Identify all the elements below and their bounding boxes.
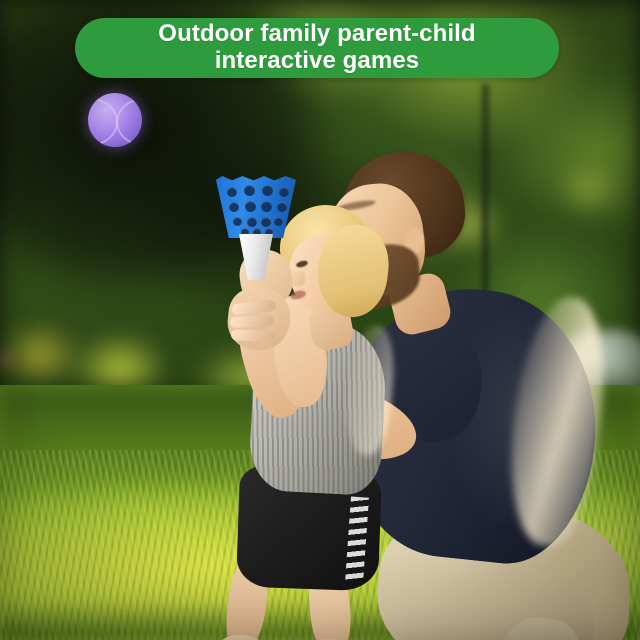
- headline-text: Outdoor family parent-child interactive …: [148, 21, 485, 75]
- purple-launch-ball: [88, 93, 142, 147]
- finger: [230, 315, 275, 328]
- cup-hole: [261, 217, 271, 227]
- cup-hole: [277, 202, 287, 212]
- headline-line-1: Outdoor family parent-child: [158, 20, 475, 47]
- cup-hole: [227, 187, 237, 197]
- cup-hole: [244, 185, 255, 196]
- cup-hole: [247, 217, 257, 227]
- product-lifestyle-image: Outdoor family parent-child interactive …: [0, 0, 640, 640]
- finger: [231, 329, 275, 342]
- headline-line-2: interactive games: [215, 47, 419, 74]
- cup-hole: [229, 202, 239, 212]
- cup-hole: [279, 187, 289, 197]
- headline-banner: Outdoor family parent-child interactive …: [75, 18, 559, 78]
- cup-hole: [233, 217, 242, 226]
- cup-hole: [261, 201, 272, 212]
- cup-hole: [274, 217, 283, 226]
- pop-up-catch-cup: [216, 176, 308, 286]
- ball-seam: [88, 93, 142, 147]
- cup-hole: [262, 185, 273, 196]
- cup-hole: [245, 201, 256, 212]
- launcher-handle: [239, 234, 273, 280]
